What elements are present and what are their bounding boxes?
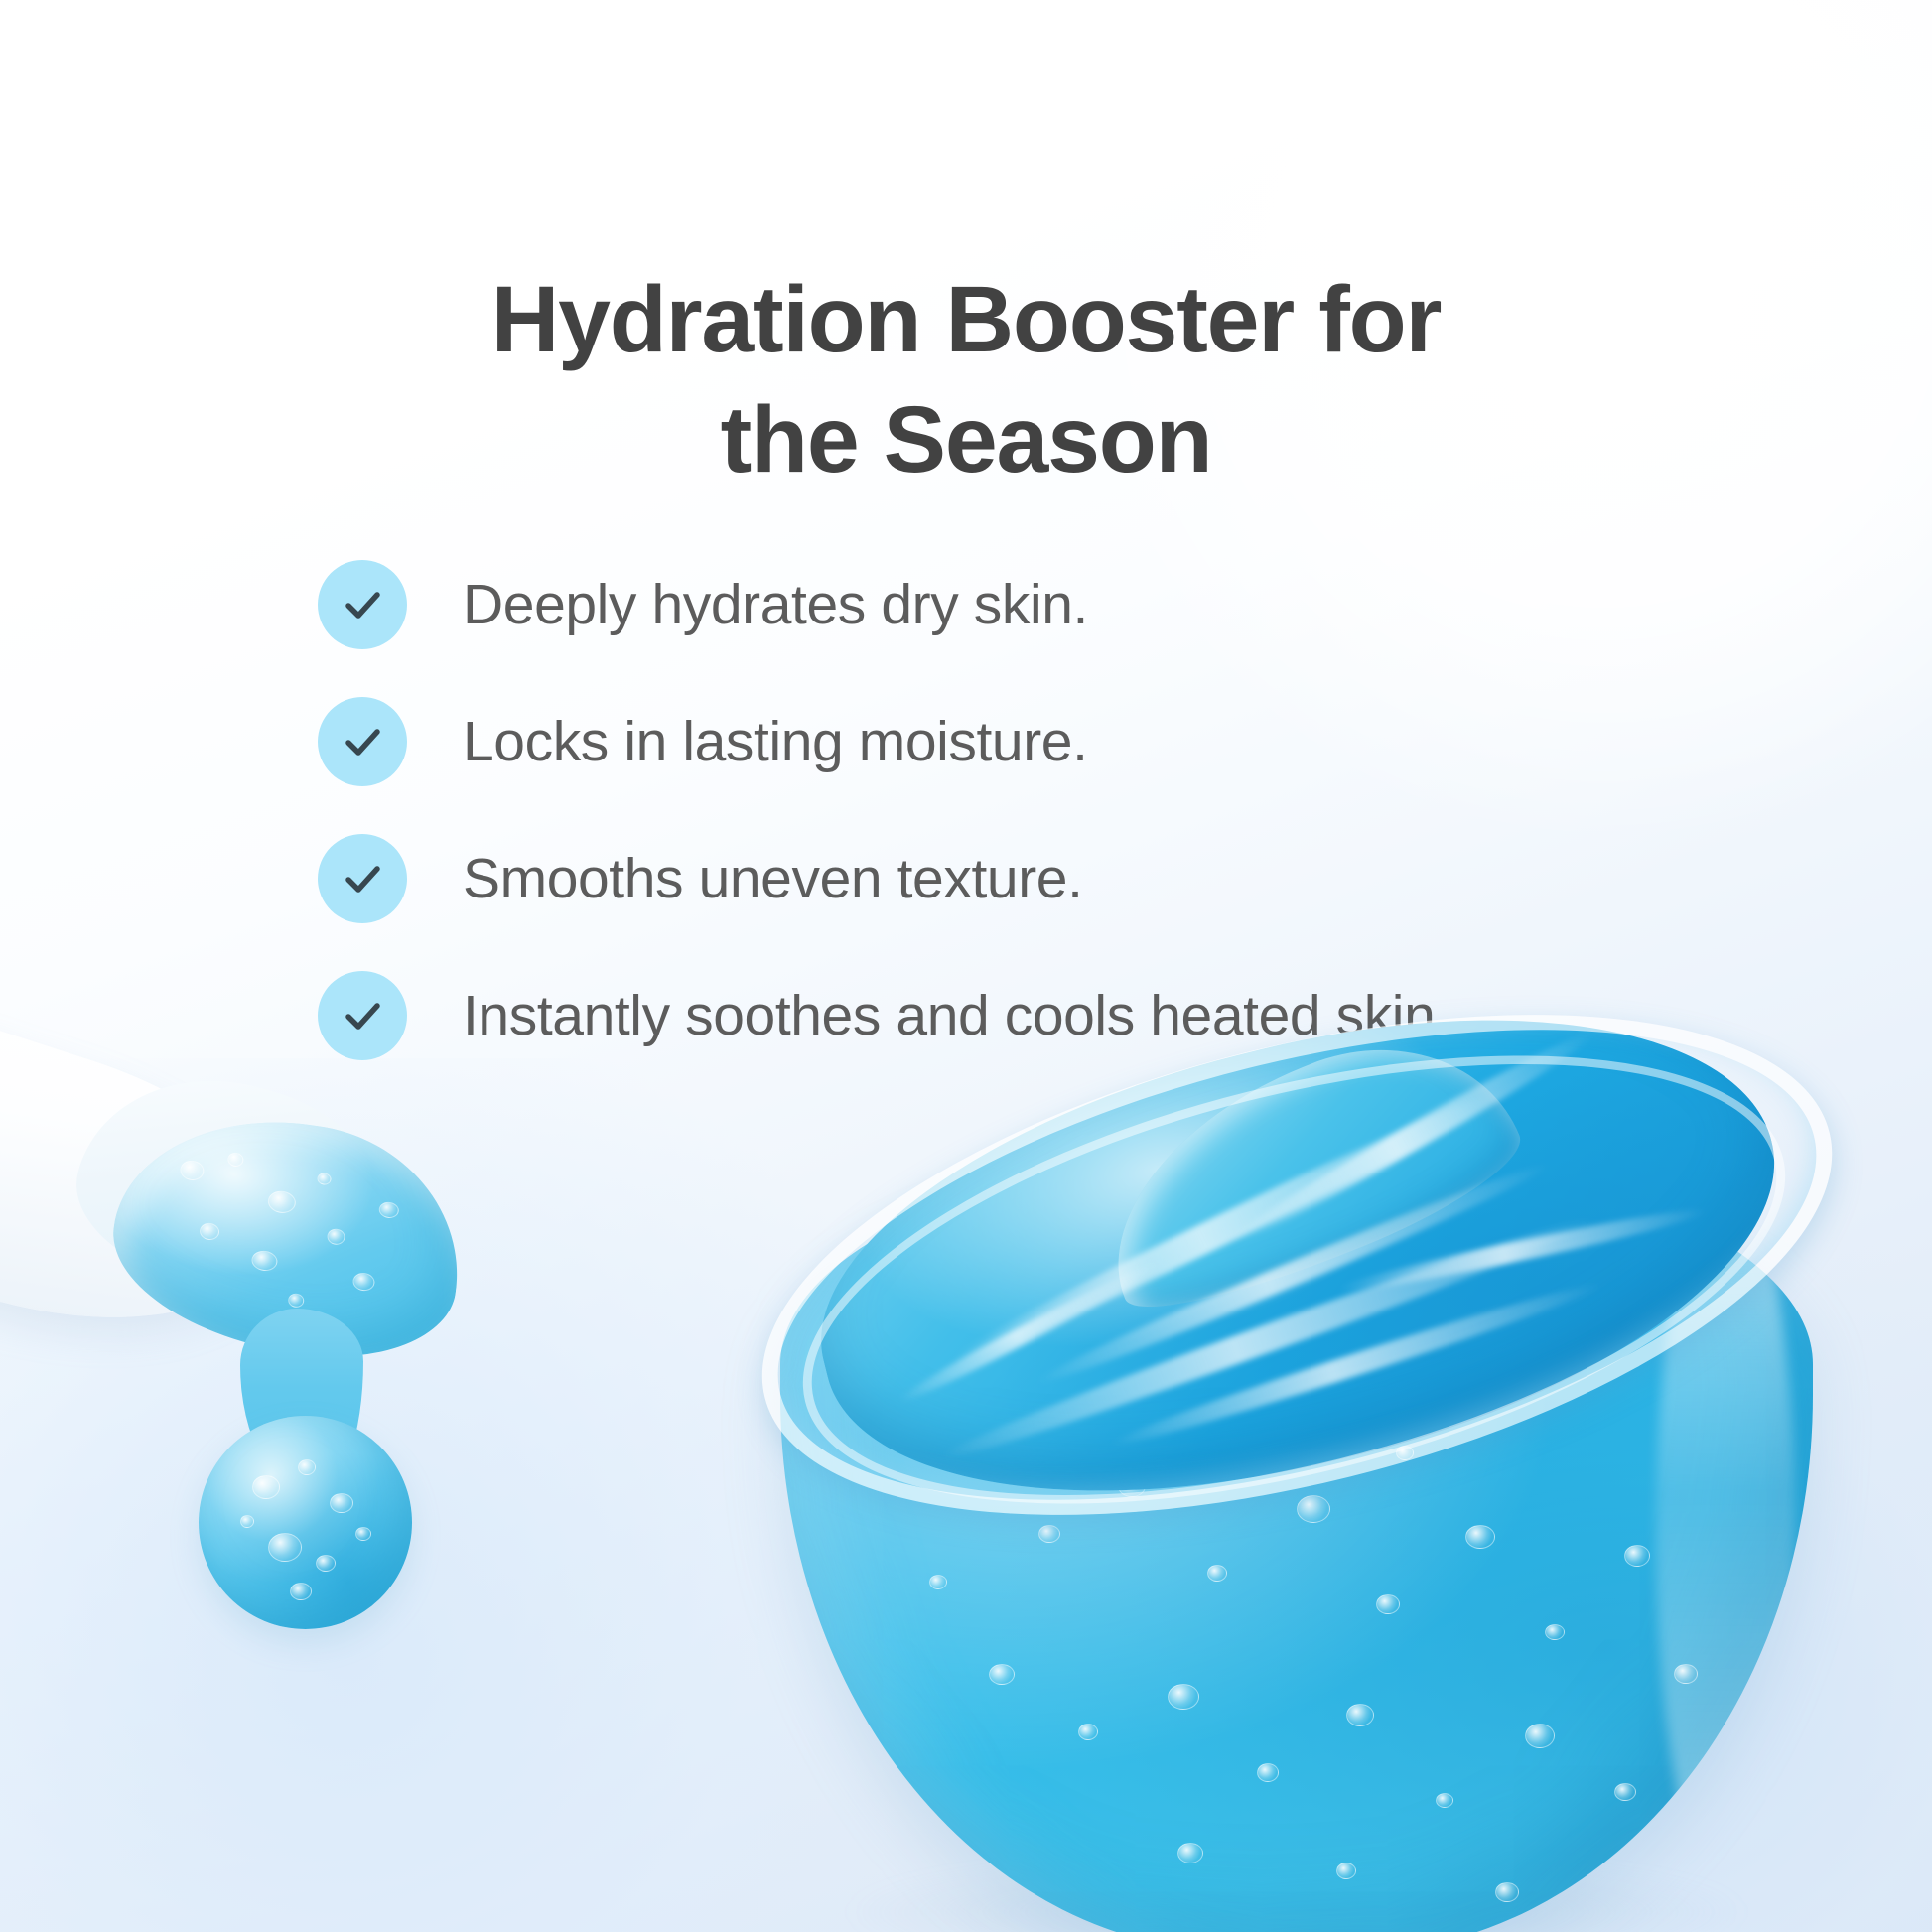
product-benefit-poster: Hydration Booster for the Season Deeply …: [0, 0, 1932, 1932]
page-title-line-1: Hydration Booster for: [491, 267, 1442, 372]
benefit-label: Locks in lasting moisture.: [463, 711, 1088, 773]
list-item: Deeply hydrates dry skin.: [318, 551, 1727, 658]
check-icon: [318, 697, 407, 786]
spatula-with-gel: [0, 919, 625, 1654]
benefit-label: Deeply hydrates dry skin.: [463, 574, 1088, 636]
page-title: Hydration Booster for the Season: [0, 260, 1932, 501]
list-item: Locks in lasting moisture.: [318, 688, 1727, 795]
page-title-line-2: the Season: [721, 387, 1212, 492]
glass-bowl: [721, 919, 1922, 1932]
product-image: [0, 880, 1932, 1932]
check-icon: [318, 560, 407, 649]
gel-droplet: [199, 1416, 412, 1629]
